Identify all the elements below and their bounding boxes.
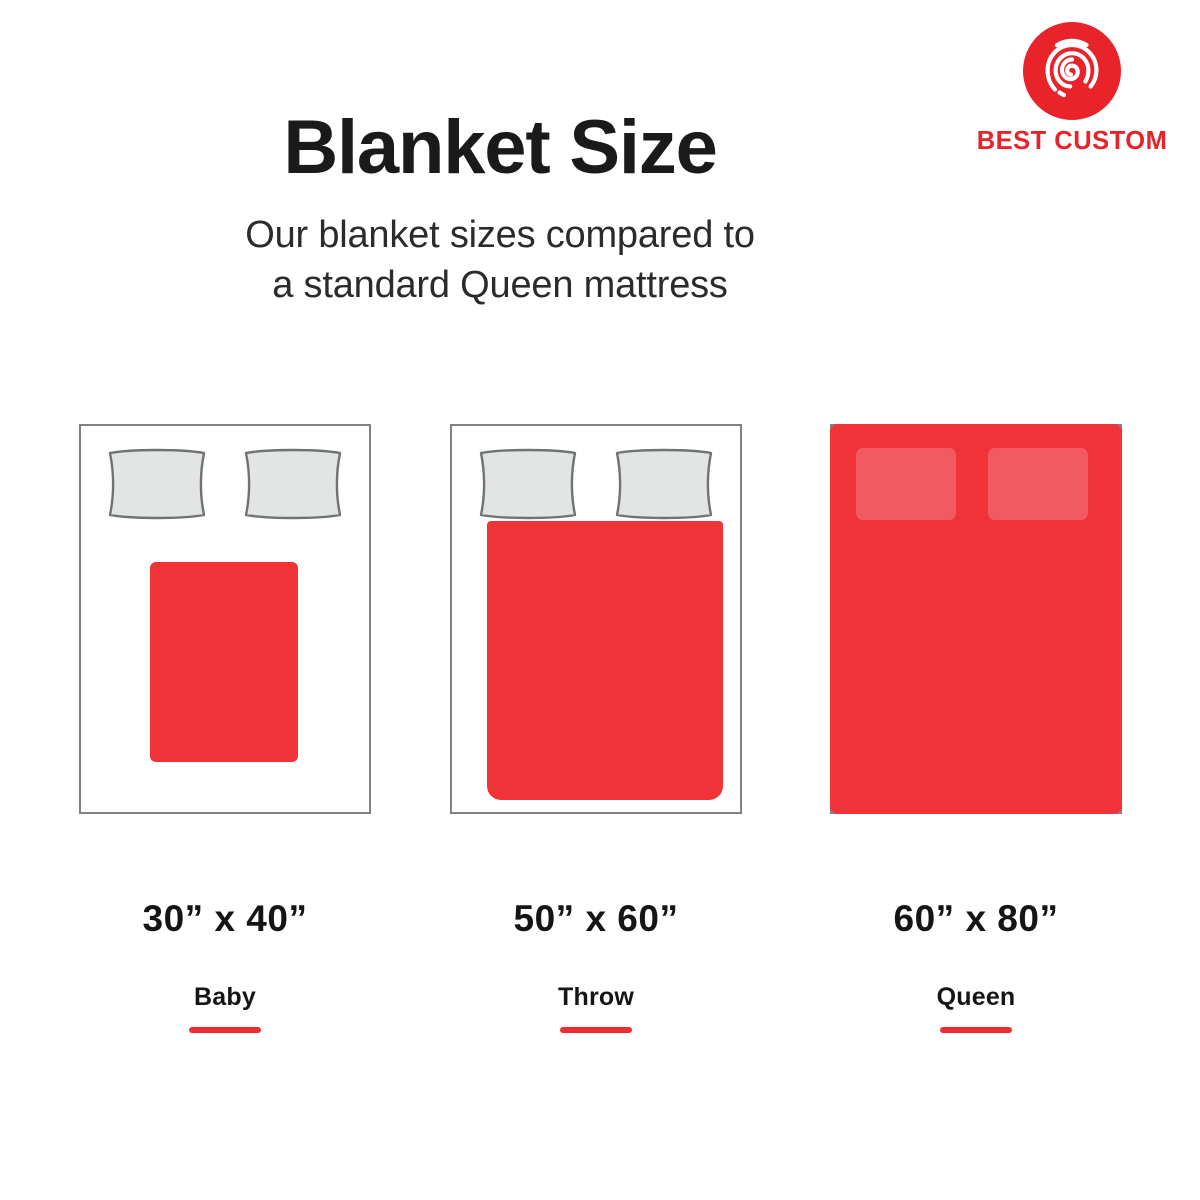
caption-row: 30” x 40” Baby 50” x 60” Throw 60” x 80”… [0, 900, 1200, 1040]
underline-rule [940, 1027, 1012, 1033]
bed-comparison-row [0, 424, 1200, 824]
page-subtitle: Our blanket sizes compared to a standard… [0, 210, 1000, 310]
blanket-queen [830, 424, 1122, 814]
subtitle-line-2: a standard Queen mattress [272, 264, 727, 306]
bed-diagram-baby [79, 424, 371, 814]
underline-rule [189, 1027, 261, 1033]
fingerprint-icon [1023, 22, 1121, 120]
pillow-icon [988, 448, 1088, 520]
page-title: Blanket Size [0, 108, 1000, 188]
size-name: Baby [79, 985, 371, 1010]
subtitle-line-1: Our blanket sizes compared to [245, 214, 755, 256]
bed-diagram-throw [450, 424, 742, 814]
size-dimensions: 30” x 40” [79, 900, 371, 937]
pillow-icon [103, 448, 211, 520]
pillow-icon [474, 448, 582, 520]
pillow-icon [239, 448, 347, 520]
pillow-icon [856, 448, 956, 520]
blanket-baby [150, 562, 298, 762]
caption-baby: 30” x 40” Baby [79, 900, 371, 1033]
underline-rule [560, 1027, 632, 1033]
size-dimensions: 50” x 60” [450, 900, 742, 937]
size-name: Queen [830, 985, 1122, 1010]
pillow-icon [610, 448, 718, 520]
bed-diagram-queen [830, 424, 1122, 814]
size-dimensions: 60” x 80” [830, 900, 1122, 937]
caption-queen: 60” x 80” Queen [830, 900, 1122, 1033]
caption-throw: 50” x 60” Throw [450, 900, 742, 1033]
blanket-throw [487, 521, 723, 800]
header-block: Blanket Size Our blanket sizes compared … [0, 108, 1200, 310]
size-name: Throw [450, 985, 742, 1010]
